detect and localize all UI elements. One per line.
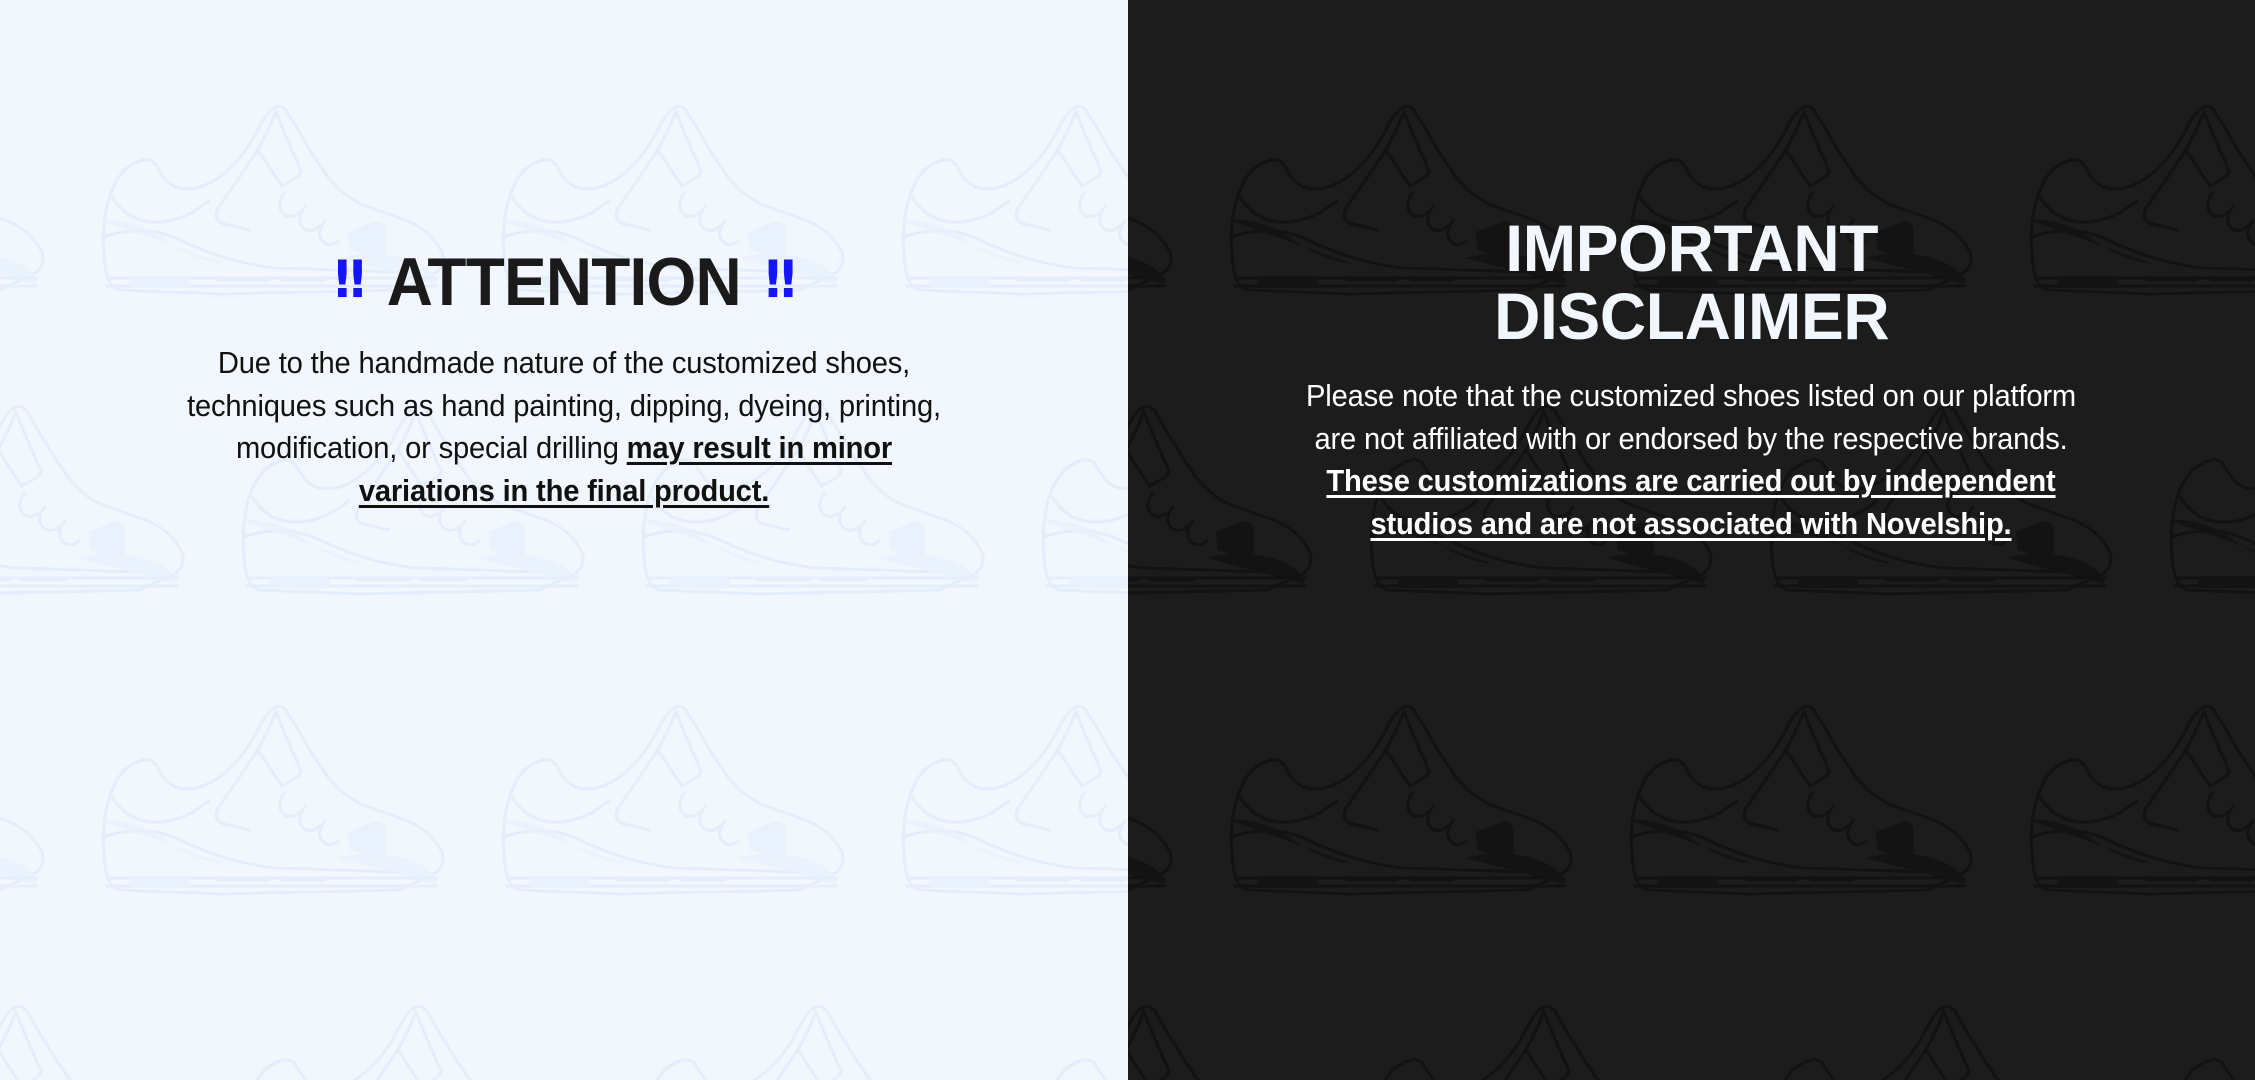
disclaimer-heading: IMPORTANT DISCLAIMER bbox=[1494, 215, 1889, 349]
disclaimer-panel: IMPORTANT DISCLAIMER Please note that th… bbox=[1128, 0, 2255, 1080]
double-exclamation-icon-left: ‼ bbox=[335, 254, 363, 306]
disclaimer-body-emphasis: These customizations are carried out by … bbox=[1327, 464, 2056, 541]
attention-heading: ‼ ATTENTION ‼ bbox=[335, 248, 793, 316]
attention-content: ‼ ATTENTION ‼ Due to the handmade nature… bbox=[0, 0, 1128, 513]
disclaimer-body: Please note that the customized shoes li… bbox=[1295, 375, 2088, 546]
double-exclamation-icon-right: ‼ bbox=[765, 254, 793, 306]
disclaimer-heading-line-1: IMPORTANT bbox=[1494, 215, 1889, 281]
attention-body: Due to the handmade nature of the custom… bbox=[172, 342, 955, 513]
disclaimer-content: IMPORTANT DISCLAIMER Please note that th… bbox=[1128, 0, 2255, 546]
disclaimer-heading-line-2: DISCLAIMER bbox=[1494, 283, 1889, 349]
attention-heading-text: ATTENTION bbox=[387, 248, 741, 316]
disclaimer-body-plain: Please note that the customized shoes li… bbox=[1306, 379, 2076, 456]
attention-panel: ‼ ATTENTION ‼ Due to the handmade nature… bbox=[0, 0, 1128, 1080]
